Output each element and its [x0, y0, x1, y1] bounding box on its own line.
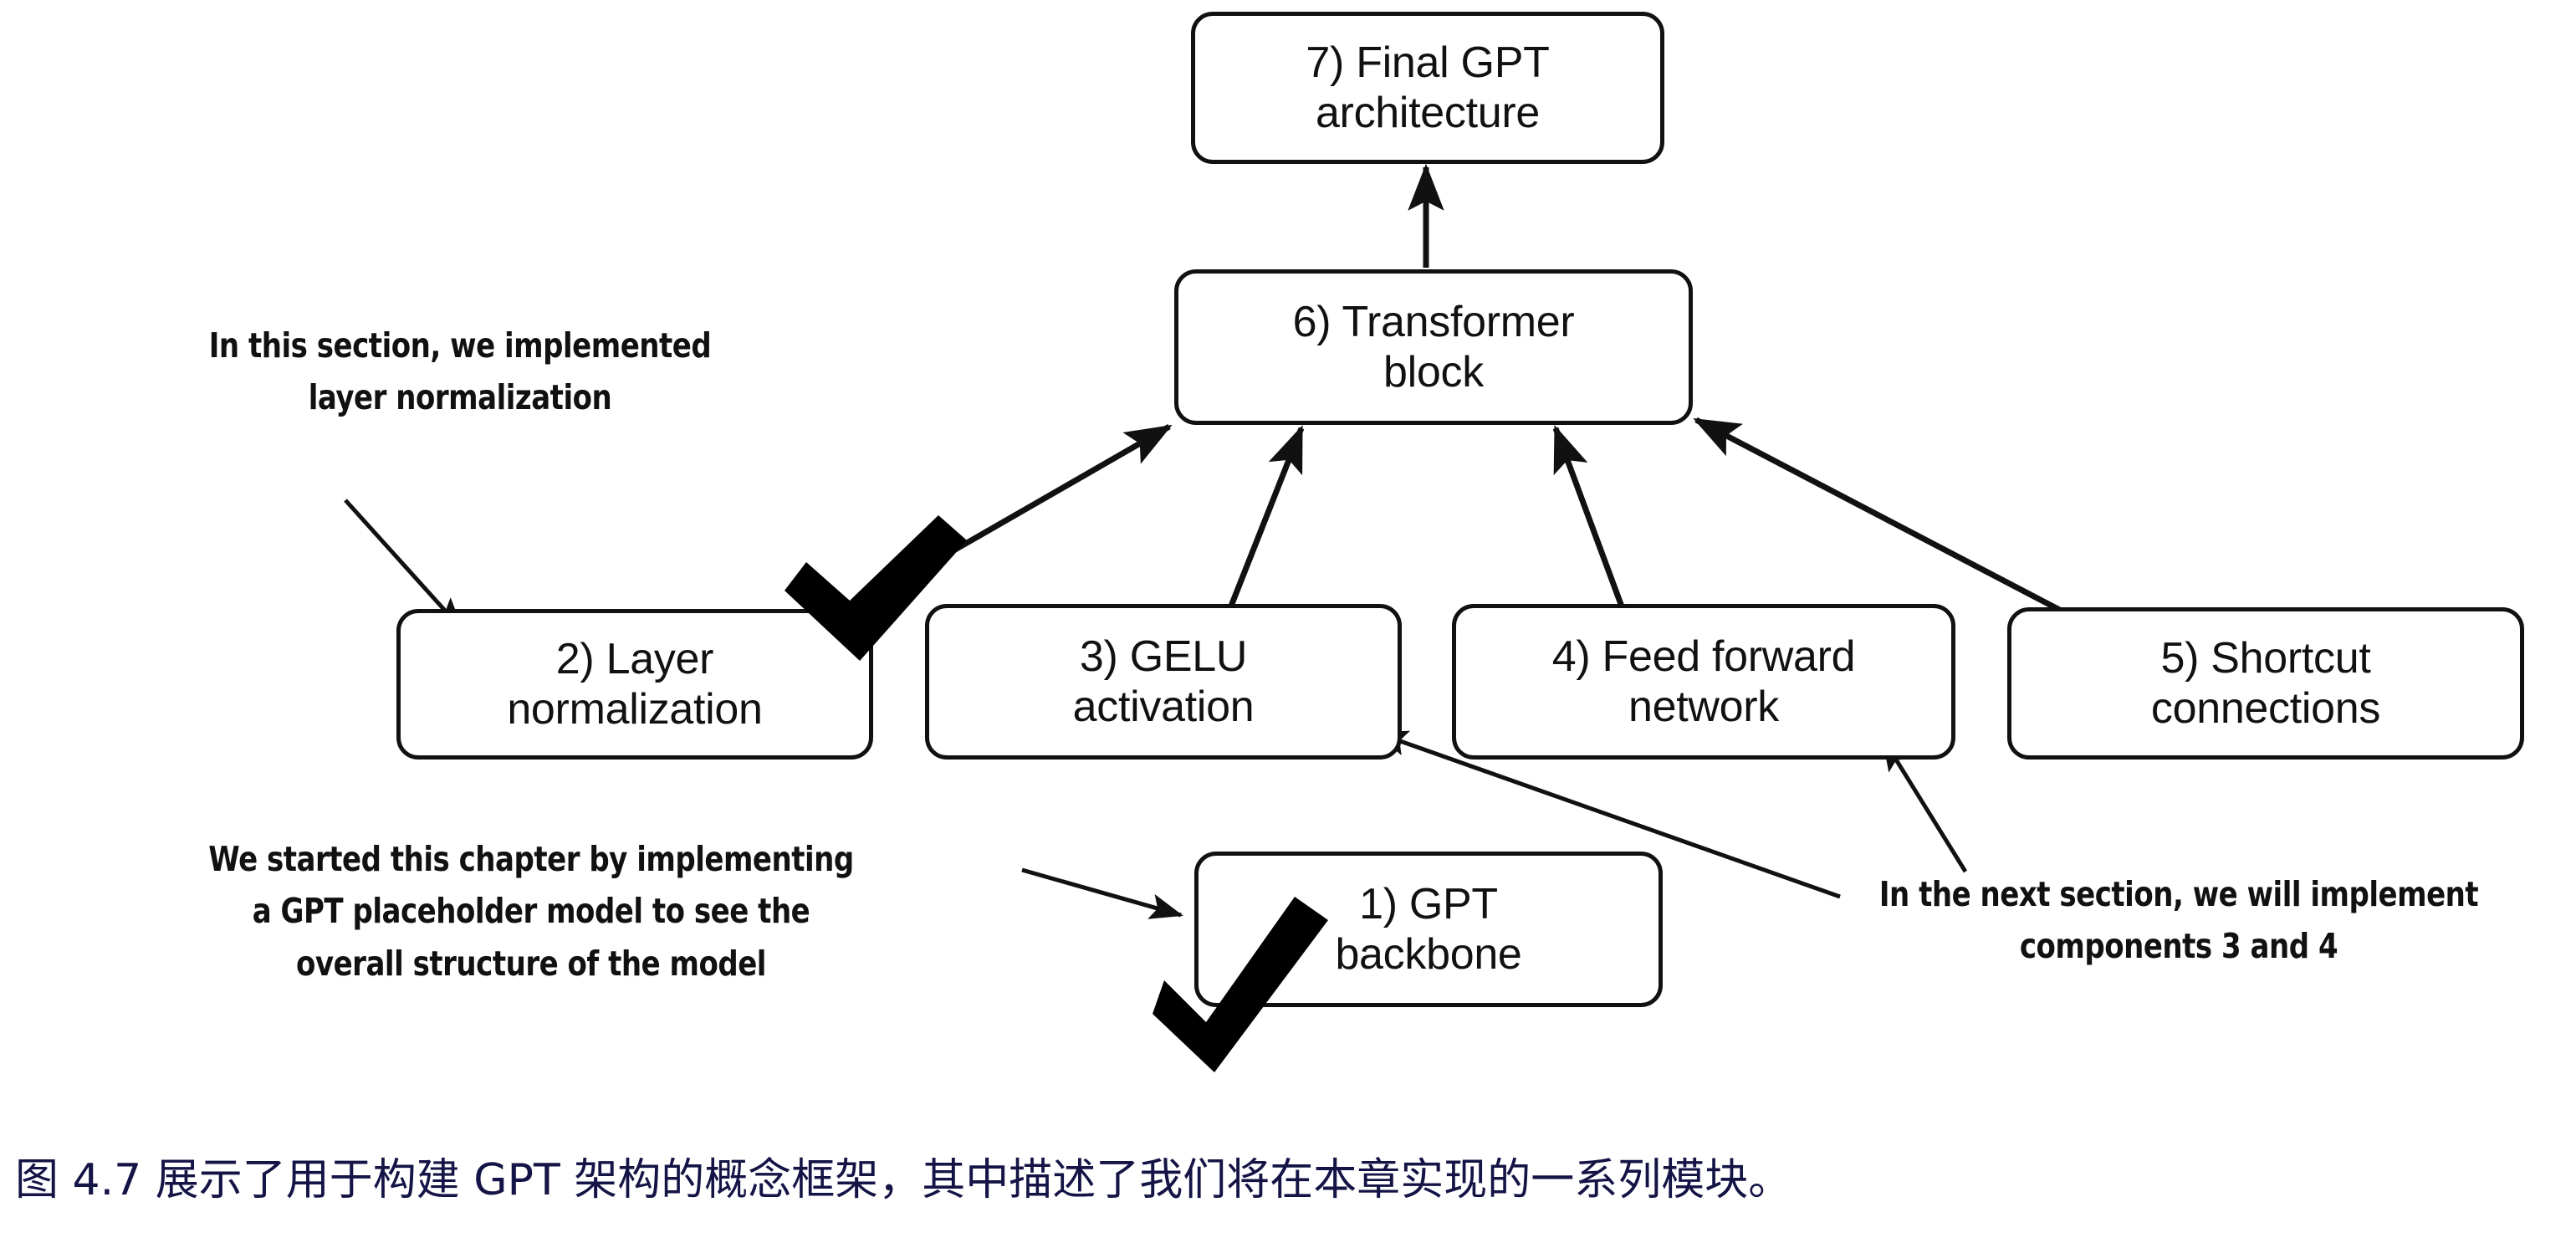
node-transformer-block[interactable]: 6) Transformer block [1174, 269, 1693, 425]
annotation-layer-normalization-line2: layer normalization [168, 371, 751, 423]
annotation-layer-normalization-line1: In this section, we implemented [168, 320, 751, 371]
node-shortcut-connections-line2: connections [2151, 683, 2380, 734]
figure-caption: 图 4.7 展示了用于构建 GPT 架构的概念框架，其中描述了我们将在本章实现的… [15, 1153, 2558, 1210]
node-transformer-block-line1: 6) Transformer [1293, 297, 1575, 347]
node-transformer-block-line2: block [1293, 347, 1575, 397]
node-gelu-activation[interactable]: 3) GELU activation [925, 604, 1402, 760]
node-gelu-activation-line2: activation [1073, 682, 1255, 732]
node-final-gpt-architecture[interactable]: 7) Final GPT architecture [1191, 12, 1664, 164]
node-shortcut-connections-line1: 5) Shortcut [2151, 633, 2380, 683]
annotation-gpt-backbone: We started this chapter by implementing … [139, 833, 923, 990]
annotation-gpt-backbone-line3: overall structure of the model [139, 938, 923, 990]
annotation-layer-normalization: In this section, we implemented layer no… [168, 320, 751, 424]
node-final-gpt-architecture-line2: architecture [1306, 88, 1549, 138]
annotation-next-section-line1: In the next section, we will implement [1835, 868, 2522, 920]
node-shortcut-connections[interactable]: 5) Shortcut connections [2007, 607, 2524, 760]
figure-canvas: 7) Final GPT architecture 6) Transformer… [0, 0, 2576, 1243]
annotation-next-section: In the next section, we will implement c… [1835, 868, 2522, 973]
node-layer-normalization[interactable]: 2) Layer normalization [396, 609, 873, 760]
node-gpt-backbone-line2: backbone [1335, 929, 1521, 980]
annotation-gpt-backbone-line1: We started this chapter by implementing [139, 833, 923, 885]
node-layer-normalization-line1: 2) Layer [507, 634, 762, 684]
node-gelu-activation-line1: 3) GELU [1073, 632, 1255, 682]
node-gpt-backbone[interactable]: 1) GPT backbone [1194, 852, 1663, 1007]
leader-gptbackbone-note [1022, 870, 1181, 915]
node-gpt-backbone-line1: 1) GPT [1335, 879, 1521, 929]
node-feed-forward-network-line2: network [1552, 682, 1856, 732]
node-final-gpt-architecture-line1: 7) Final GPT [1306, 38, 1549, 88]
annotation-gpt-backbone-line2: a GPT placeholder model to see the [139, 885, 923, 937]
node-feed-forward-network-line1: 4) Feed forward [1552, 632, 1856, 682]
node-feed-forward-network[interactable]: 4) Feed forward network [1452, 604, 1955, 760]
annotation-next-section-line2: components 3 and 4 [1835, 920, 2522, 972]
node-layer-normalization-line2: normalization [507, 684, 762, 734]
